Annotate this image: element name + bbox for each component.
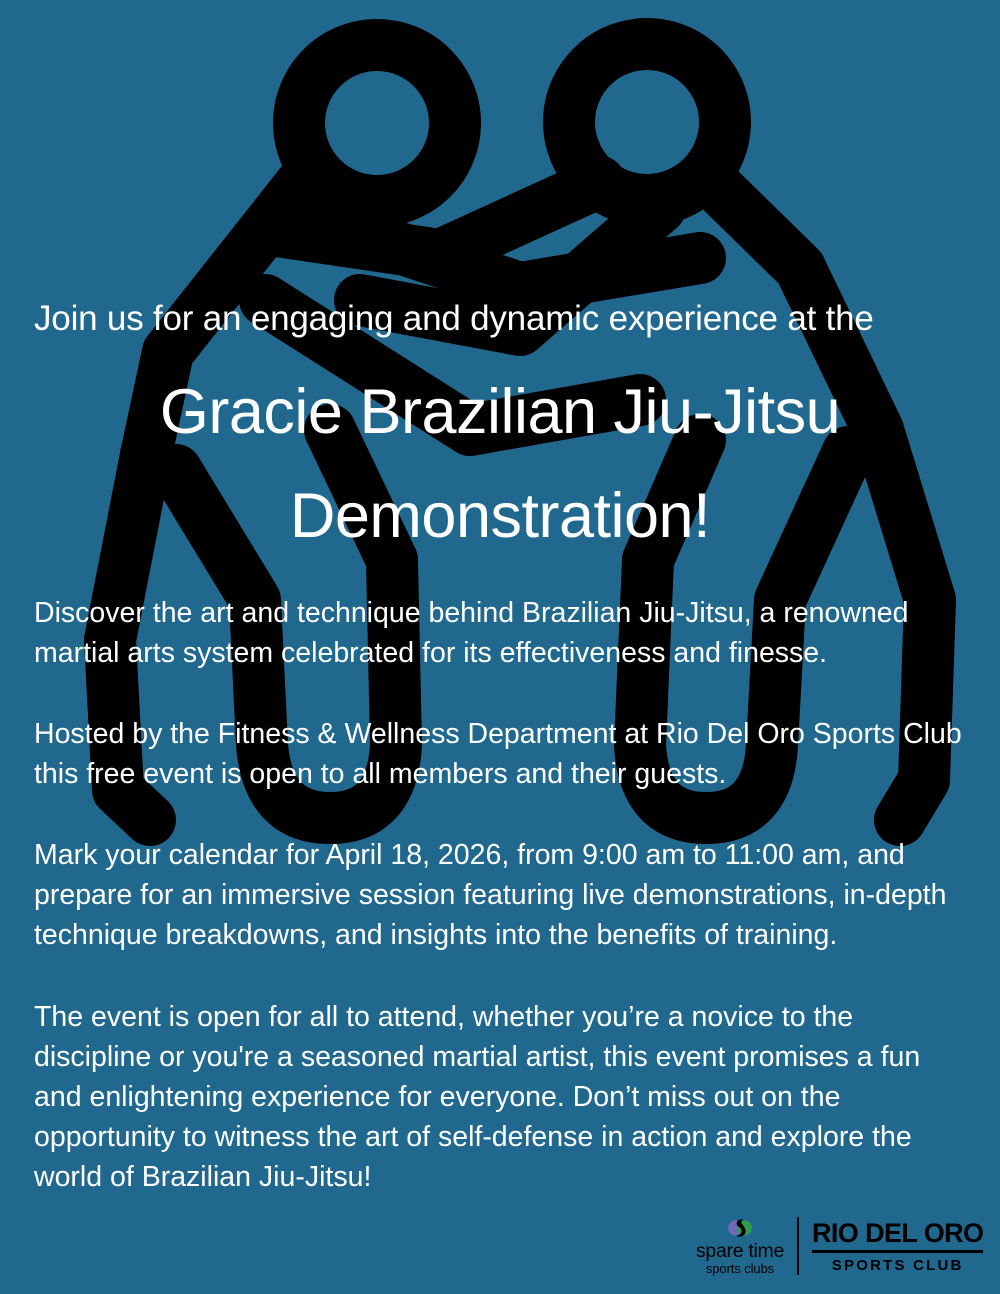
paragraph-4-line-1: The event is open for all to attend, whe… [34,997,1000,1037]
title-line-2: Demonstration! [0,464,1000,568]
paragraph-1-line-2: martial arts system celebrated for its e… [34,633,1000,673]
paragraph-4-line-3: and enlightening experience for everyone… [34,1077,1000,1117]
footer-logo-lockup: spare time sports clubs RIO DEL ORO SPOR… [692,1210,988,1282]
spare-time-tagline: sports clubs [706,1261,774,1276]
paragraph-3-line-3: technique breakdowns, and insights into … [34,915,1000,955]
paragraph-1-line-1: Discover the art and technique behind Br… [34,593,1000,633]
paragraph-4-line-2: discipline or you're a seasoned martial … [34,1037,1000,1077]
rio-del-oro-rule [812,1250,983,1253]
paragraph-3-line-2: prepare for an immersive session featuri… [34,875,1000,915]
paragraph-2-line-2: this free event is open to all members a… [34,754,1000,794]
paragraph-invitation: The event is open for all to attend, whe… [34,997,1000,1197]
rio-del-oro-logo: RIO DEL ORO SPORTS CLUB [812,1218,983,1274]
paragraph-4-line-5: world of Brazilian Jiu-Jitsu! [34,1157,1000,1197]
rio-del-oro-subtitle: SPORTS CLUB [832,1257,964,1274]
rio-del-oro-name: RIO DEL ORO [812,1218,983,1248]
logo-divider [797,1217,799,1275]
paragraph-4-line-4: opportunity to witness the art of self-d… [34,1117,1000,1157]
paragraph-description: Discover the art and technique behind Br… [34,593,1000,673]
spare-time-wordmark: spare time [696,1241,784,1261]
spare-time-logo: spare time sports clubs [692,1216,788,1276]
lead-line: Join us for an engaging and dynamic expe… [34,297,1000,341]
paragraph-schedule: Mark your calendar for April 18, 2026, f… [34,835,1000,955]
title-line-1: Gracie Brazilian Jiu-Jitsu [0,360,1000,464]
spare-time-mark-icon [727,1216,753,1240]
paragraph-host: Hosted by the Fitness & Wellness Departm… [34,714,1000,794]
event-flyer: Join us for an engaging and dynamic expe… [0,0,1000,1294]
page-title: Gracie Brazilian Jiu-Jitsu Demonstration… [0,360,1000,568]
paragraph-2-line-1: Hosted by the Fitness & Wellness Departm… [34,714,1000,754]
paragraph-3-line-1: Mark your calendar for April 18, 2026, f… [34,835,1000,875]
